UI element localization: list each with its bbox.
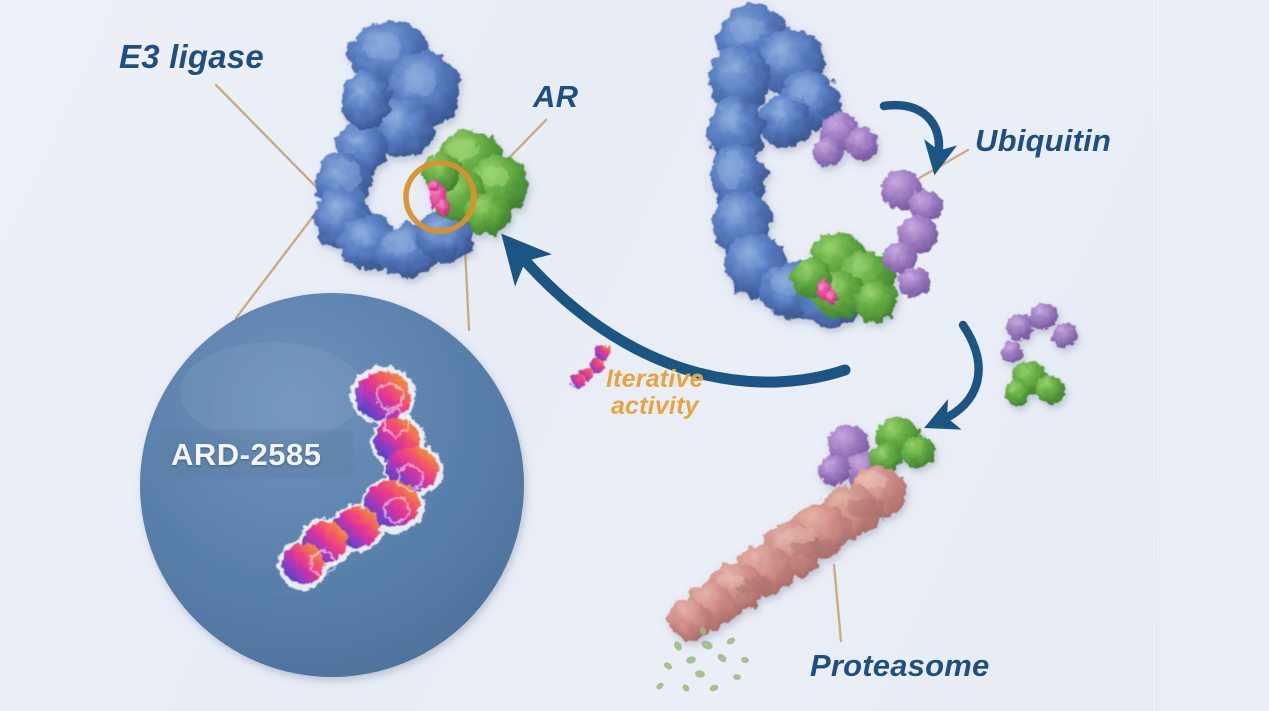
- ar-protein-free: [1005, 361, 1065, 406]
- label-ar: AR: [533, 79, 578, 115]
- label-proteasome: Proteasome: [810, 648, 989, 684]
- proteasome-complex: [668, 417, 935, 641]
- ubiquitin-transfer-arrow: [884, 105, 939, 156]
- e3-ar-complex-right: [708, 6, 898, 327]
- e3-ar-complex-left: [314, 21, 528, 277]
- degrader-icon-iterative: [571, 345, 611, 388]
- ubiquitin-chain-free: [1001, 303, 1078, 363]
- diagram-artwork: [0, 0, 1269, 711]
- label-iterative-line2: activity: [606, 393, 704, 420]
- ar-on-proteasome: [870, 417, 935, 473]
- figure-canvas: E3 ligase AR Ubiquitin Proteasome Iterat…: [0, 0, 1269, 711]
- proteasome-body: [668, 466, 906, 641]
- ubiquitinated-ar-free: [1001, 303, 1078, 406]
- label-iterative-line1: Iterative: [606, 366, 704, 393]
- label-iterative-activity: Iterative activity: [606, 366, 704, 420]
- proteasome-arrow: [942, 325, 979, 420]
- disc-sheen: [180, 342, 364, 442]
- label-e3-ligase: E3 ligase: [119, 38, 264, 76]
- ard-2585-inset: [140, 293, 524, 677]
- inset-disc-background: [140, 293, 524, 677]
- label-ubiquitin: Ubiquitin: [975, 123, 1111, 159]
- label-ard-2585: ARD-2585: [171, 437, 321, 473]
- leader-e3-to-ligase: [216, 85, 327, 198]
- leader-proteasome: [834, 565, 841, 641]
